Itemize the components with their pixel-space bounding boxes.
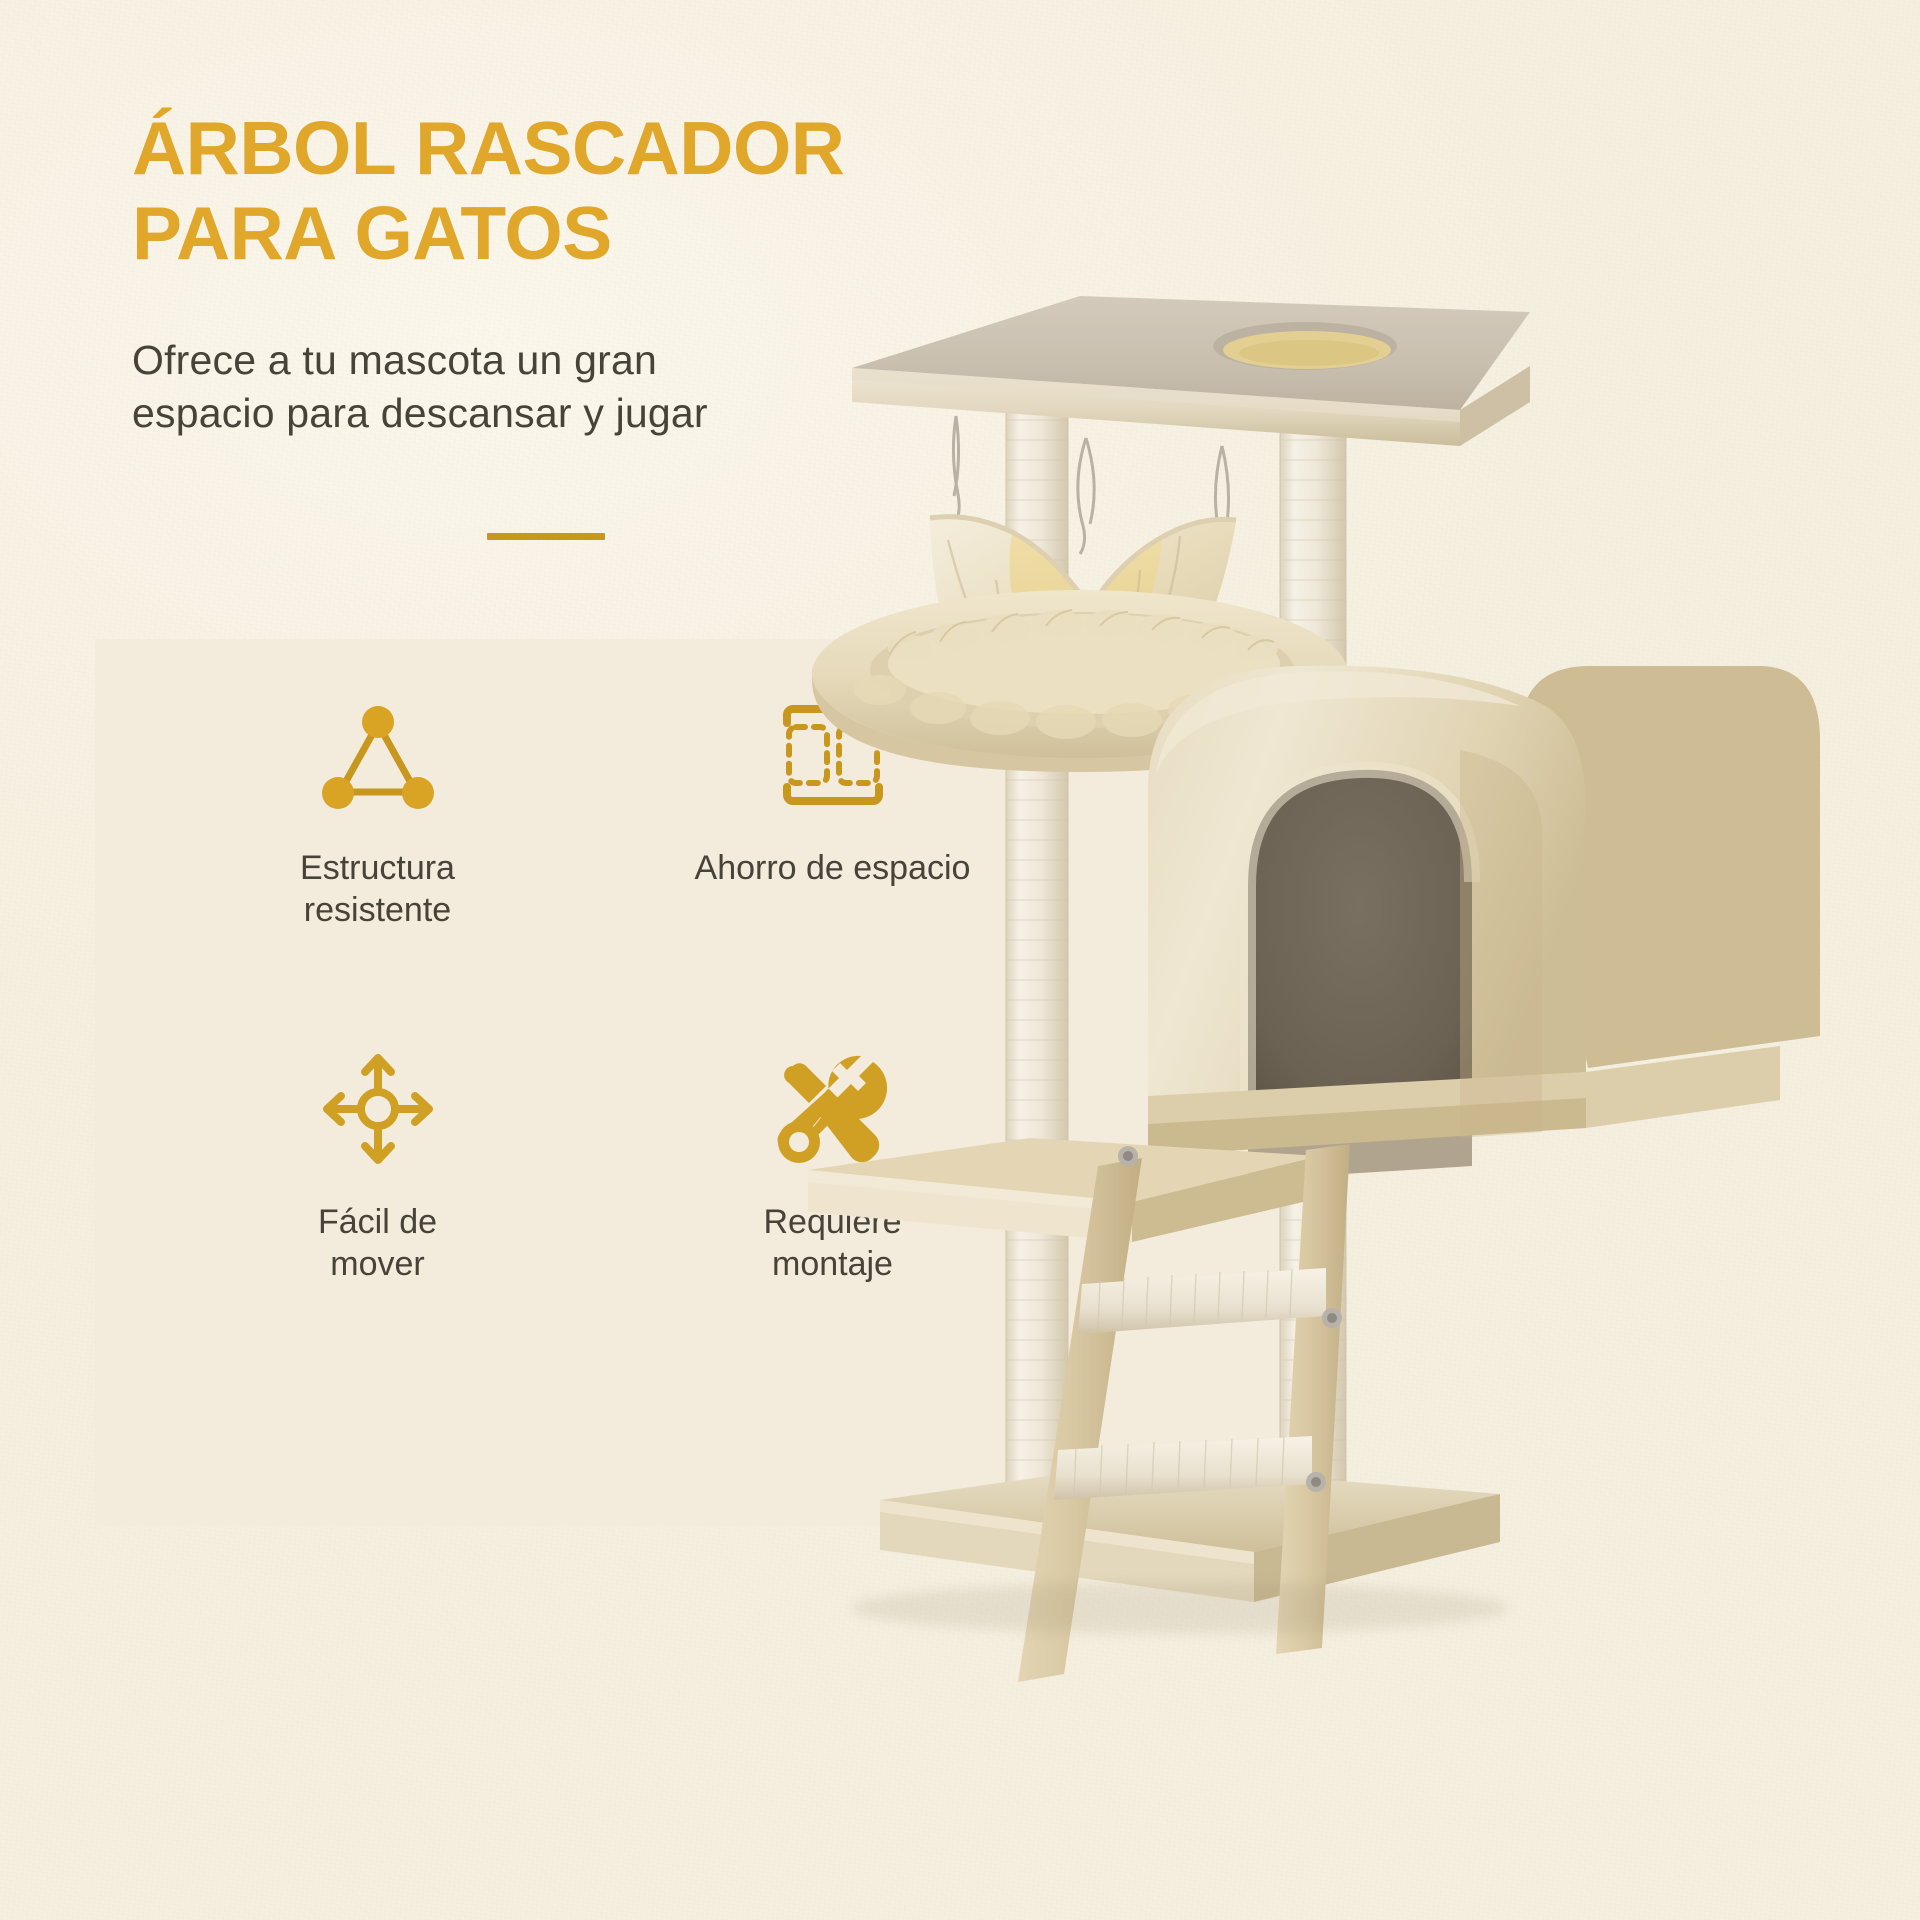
condo-house xyxy=(1148,666,1820,1180)
feature-item-structure: Estructura resistente xyxy=(205,697,550,931)
page-title: ÁRBOL RASCADOR PARA GATOS xyxy=(132,112,1032,270)
mid-shelf xyxy=(808,1138,1320,1242)
four-way-arrows-icon xyxy=(315,1051,441,1167)
ground-shadow xyxy=(850,1582,1510,1634)
feature-item-move: Fácil de mover xyxy=(205,1051,550,1285)
cat-tree-illustration xyxy=(760,250,1880,1810)
cat-tree-photo xyxy=(760,250,1880,1810)
feature-label-move: Fácil de mover xyxy=(318,1201,437,1285)
promo-graphic: ÁRBOL RASCADOR PARA GATOS Ofrece a tu ma… xyxy=(0,0,1920,1920)
triangle-structure-icon xyxy=(315,697,441,813)
title-line-1: ÁRBOL RASCADOR xyxy=(132,112,1032,186)
accent-divider xyxy=(487,533,605,540)
feature-label-structure: Estructura resistente xyxy=(300,847,455,931)
